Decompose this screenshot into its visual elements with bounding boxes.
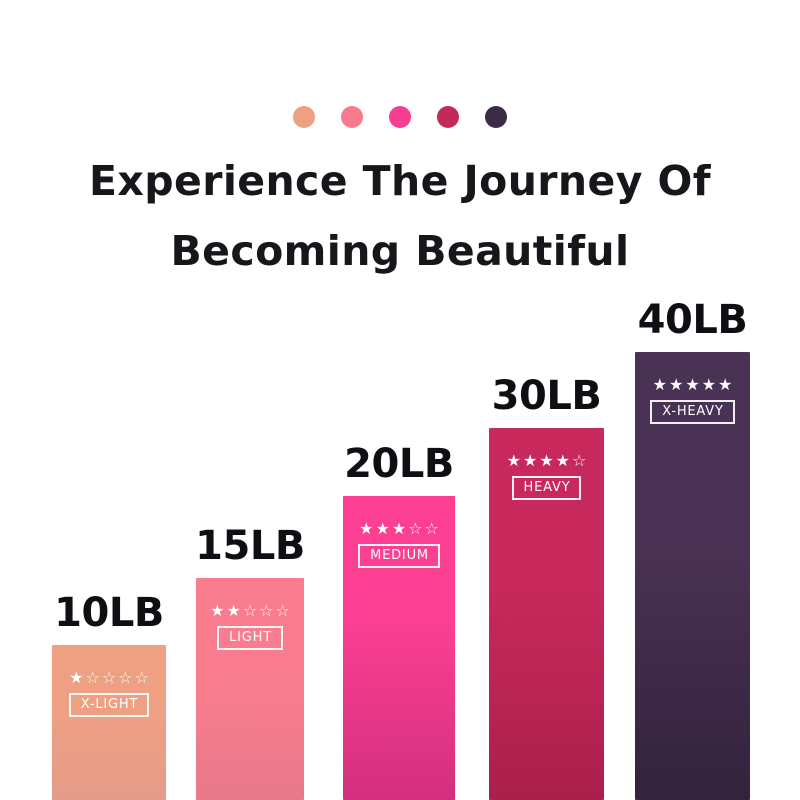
bar-group[interactable]: 30LB★★★★☆HEAVY	[489, 428, 604, 800]
bar-weight-label: 15LB	[195, 524, 305, 568]
bar-heavy[interactable]	[489, 428, 604, 800]
bar-light[interactable]	[196, 578, 304, 800]
bar-weight-label: 10LB	[54, 591, 164, 635]
bar-x-heavy[interactable]	[635, 352, 750, 800]
bar-group[interactable]: 20LB★★★☆☆MEDIUM	[343, 496, 455, 800]
bar-group[interactable]: 15LB★★☆☆☆LIGHT	[196, 578, 304, 800]
bar-medium[interactable]	[343, 496, 455, 800]
infographic-root: Experience The Journey Of Becoming Beaut…	[0, 0, 800, 800]
resistance-bar-chart: 10LB★☆☆☆☆X-LIGHT15LB★★☆☆☆LIGHT20LB★★★☆☆M…	[0, 0, 800, 800]
bar-weight-label: 20LB	[344, 442, 454, 486]
bar-group[interactable]: 10LB★☆☆☆☆X-LIGHT	[52, 645, 166, 800]
bar-x-light[interactable]	[52, 645, 166, 800]
bar-group[interactable]: 40LB★★★★★X-HEAVY	[635, 352, 750, 800]
bar-weight-label: 30LB	[492, 374, 602, 418]
bar-weight-label: 40LB	[638, 298, 748, 342]
